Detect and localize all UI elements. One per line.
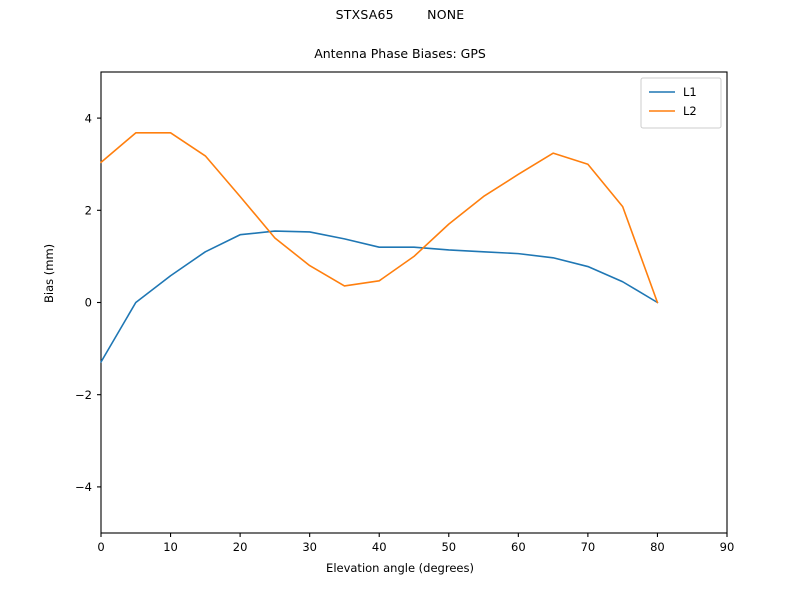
axes-frame <box>101 72 727 533</box>
x-tick-label: 90 <box>720 540 735 554</box>
x-tick-label: 0 <box>97 540 104 554</box>
y-tick-label: −2 <box>75 388 92 402</box>
y-axis-label: Bias (mm) <box>42 244 56 303</box>
figure-suptitle: STXSA65 NONE <box>0 7 800 22</box>
legend-box <box>641 78 721 128</box>
x-axis-ticks: 0102030405060708090 <box>97 533 734 554</box>
legend[interactable]: L1L2 <box>641 78 721 128</box>
x-tick-label: 10 <box>163 540 178 554</box>
x-tick-label: 60 <box>511 540 526 554</box>
series-line-L2 <box>101 133 657 303</box>
y-axis-ticks: −4−2024 <box>75 111 101 494</box>
data-series-group <box>101 133 657 362</box>
x-tick-label: 80 <box>650 540 665 554</box>
series-line-L1 <box>101 231 657 362</box>
y-tick-label: −4 <box>75 480 92 494</box>
y-tick-label: 2 <box>85 204 92 218</box>
y-tick-label: 0 <box>85 296 92 310</box>
x-tick-label: 50 <box>441 540 456 554</box>
x-tick-label: 30 <box>302 540 317 554</box>
x-axis-label: Elevation angle (degrees) <box>0 561 800 575</box>
figure-canvas: STXSA65 NONE Antenna Phase Biases: GPS B… <box>0 0 800 600</box>
legend-label-L2: L2 <box>683 104 697 118</box>
x-tick-label: 70 <box>581 540 596 554</box>
x-tick-label: 40 <box>372 540 387 554</box>
x-tick-label: 20 <box>233 540 248 554</box>
page-title: Antenna Phase Biases: GPS <box>0 46 800 61</box>
y-tick-label: 4 <box>85 111 92 125</box>
plot-area: 0102030405060708090 −4−2024 L1L2 <box>0 0 800 600</box>
legend-label-L1: L1 <box>683 85 697 99</box>
